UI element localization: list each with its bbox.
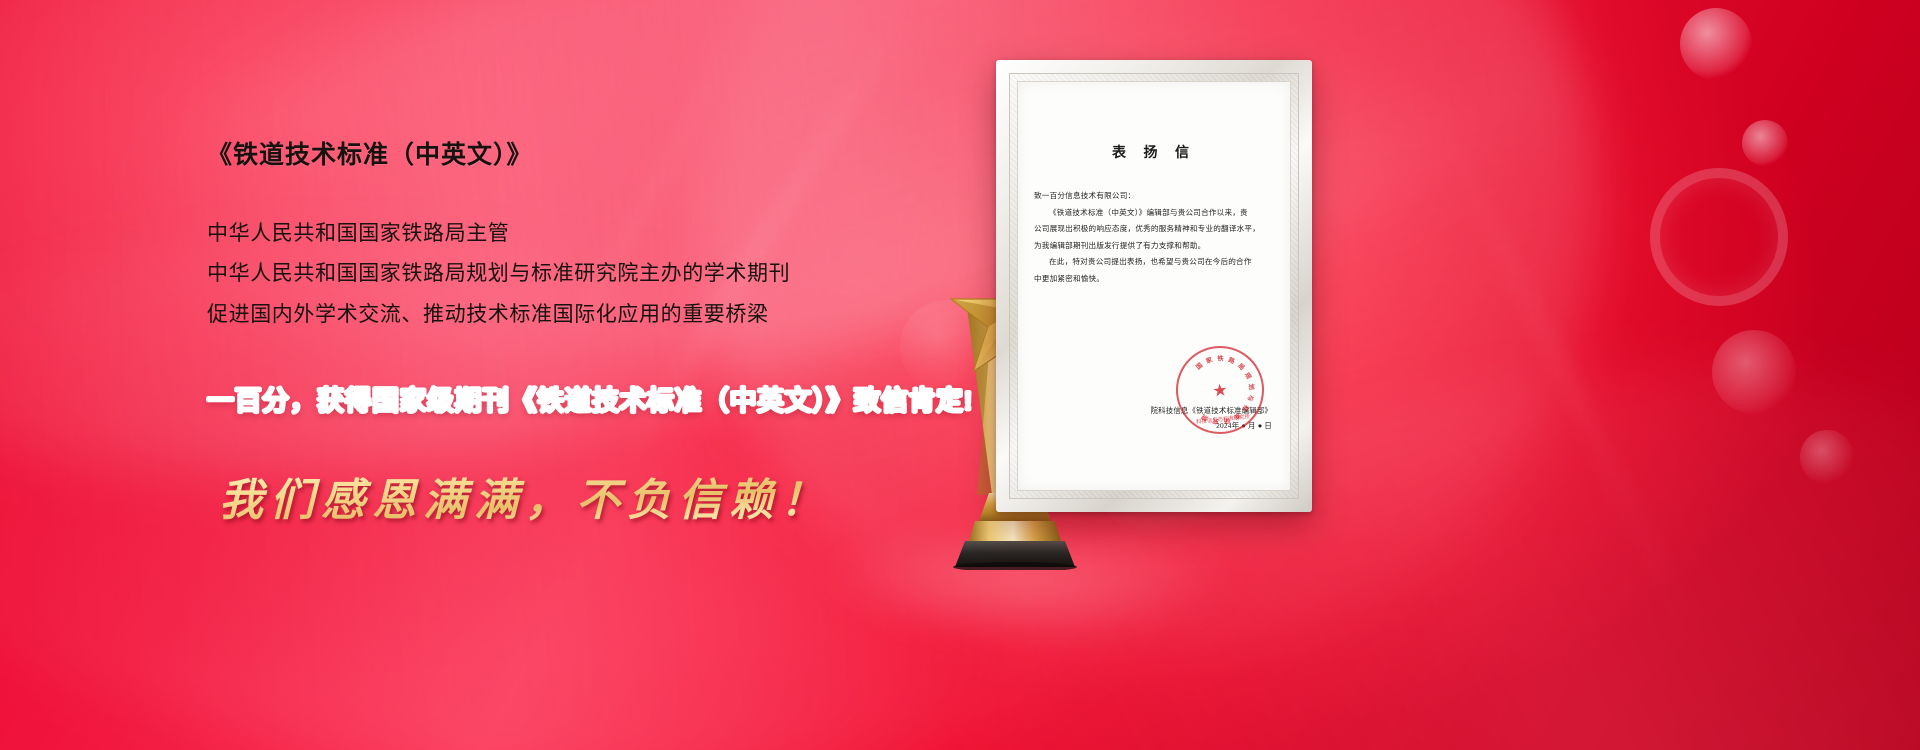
bokeh-ring (1650, 168, 1788, 306)
certificate-salutation: 致一百分信息技术有限公司： (1034, 188, 1274, 204)
certificate-paragraph-2: 公司展现出积极的响应态度，优秀的服务精神和专业的翻译水平， (1034, 221, 1274, 237)
bokeh-circle-2 (1742, 120, 1788, 166)
bokeh-circle-1 (1680, 8, 1752, 80)
certificate-paper: 表 扬 信 致一百分信息技术有限公司： 《铁道技术标准（中英文）》编辑部与贵公司… (1017, 81, 1291, 491)
bokeh-circle-3 (1712, 330, 1796, 414)
promo-banner: 《铁道技术标准（中英文）》 中华人民共和国国家铁路局主管 中华人民共和国国家铁路… (0, 0, 1920, 750)
frame-inner-bevel: 表 扬 信 致一百分信息技术有限公司： 《铁道技术标准（中英文）》编辑部与贵公司… (1009, 73, 1299, 499)
certificate-frame: 表 扬 信 致一百分信息技术有限公司： 《铁道技术标准（中英文）》编辑部与贵公司… (996, 60, 1312, 512)
certificate-title: 表 扬 信 (1034, 142, 1274, 162)
certificate-paragraph-5: 中更加紧密和愉快。 (1034, 271, 1274, 287)
bokeh-circle-6 (1800, 430, 1854, 484)
seal-star-icon: ★ (1212, 381, 1229, 400)
official-seal-icon: 国家铁路局规划与标准研究院 ★ 科技信息与标准研究所 (1172, 342, 1269, 439)
certificate-paragraph-4: 在此，特对贵公司提出表扬，也希望与贵公司在今后的合作 (1034, 254, 1274, 270)
certificate-paragraph-3: 为我编辑部期刊出版发行提供了有力支撑和帮助。 (1034, 238, 1274, 254)
journal-title: 《铁道技术标准（中英文）》 (207, 140, 1087, 170)
light-streak-3 (1424, 90, 1700, 649)
certificate-paragraph-1: 《铁道技术标准（中英文）》编辑部与贵公司合作以来，贵 (1034, 205, 1274, 221)
